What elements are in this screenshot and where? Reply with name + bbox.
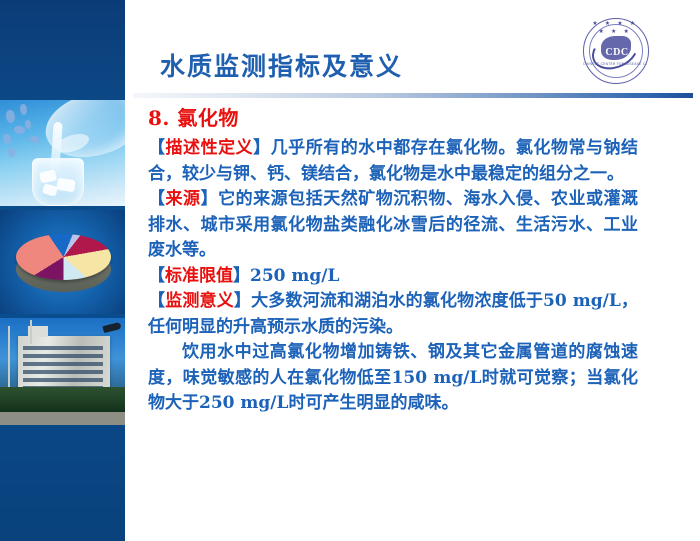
paragraph-source: 【来源】它的来源包括天然矿物沉积物、海水入侵、农业或灌溉排水、城市采用氯化物盐类…: [148, 187, 638, 264]
splash-droplet-icon: [3, 134, 11, 144]
slide-canvas: 水质监测指标及意义 ★ ★ ★ ★ ★ ★ ★ CDC CHINESE CENT…: [0, 0, 700, 541]
splash-droplet-icon: [14, 126, 25, 134]
decorative-sidebar: [0, 0, 125, 541]
label-monitoring-significance: 【监测意义】: [148, 291, 251, 311]
slide-body: 8. 氯化物 【描述性定义】几乎所有的水中都存在氯化物。氯化物常与钠结合，较少与…: [148, 105, 638, 417]
title-divider: [133, 93, 693, 98]
label-standard-limit: 【标准限值】: [148, 266, 250, 286]
security-camera-icon: [102, 322, 121, 333]
paragraph-closing: 饮用水中过高氯化物增加铸铁、钢及其它金属管道的腐蚀速度，味觉敏感的人在氯化物低至…: [148, 340, 638, 417]
window-row: [23, 378, 103, 382]
sidebar-image-water-pouring-into-glass: [0, 100, 125, 206]
road-strip: [0, 412, 125, 425]
splash-droplet-icon: [8, 148, 15, 157]
street-pole: [8, 326, 10, 392]
logo-arc-text: CHINESE CENTER FOR DISEASE CONTROL AND P…: [583, 62, 647, 66]
value-standard-limit: 250 mg/L: [250, 266, 339, 286]
antenna-mast: [30, 320, 32, 344]
window-row: [23, 354, 103, 358]
label-source: 【来源】: [148, 189, 218, 209]
window-row: [23, 362, 103, 366]
paragraph-monitoring-significance: 【监测意义】大多数河流和湖泊水的氯化物浓度低于50 mg/L，任何明显的升高预示…: [148, 289, 638, 340]
window-row: [23, 370, 103, 374]
splash-droplet-icon: [25, 120, 31, 129]
sidebar-image-pie-chart-3d: [0, 210, 125, 314]
label-descriptive-definition: 【描述性定义】: [148, 138, 271, 158]
paragraph-descriptive-definition: 【描述性定义】几乎所有的水中都存在氯化物。氯化物常与钠结合，较少与钾、钙、镁结合…: [148, 136, 638, 187]
splash-droplet-icon: [20, 104, 27, 115]
splash-droplet-icon: [30, 136, 39, 143]
paragraph-standard-limit: 【标准限值】250 mg/L: [148, 264, 638, 290]
logo-cdc-text: CDC: [602, 47, 632, 58]
pie-chart-top: [16, 234, 111, 280]
glass-shape: [32, 158, 84, 206]
splash-droplet-icon: [6, 110, 15, 123]
ice-cube-icon: [39, 169, 57, 183]
text-source: 它的来源包括天然矿物沉积物、海水入侵、农业或灌溉排水、城市采用氯化物盐类融化冰雪…: [148, 189, 638, 260]
sidebar-image-cdc-office-building: [0, 318, 125, 425]
ice-cube-icon: [42, 183, 58, 196]
tree-line: [0, 387, 125, 413]
ice-cube-icon: [56, 178, 76, 193]
section-heading: 8. 氯化物: [148, 105, 638, 131]
page-title: 水质监测指标及意义: [160, 47, 403, 83]
pie-chart-graphic: [16, 230, 111, 296]
window-row: [23, 346, 103, 350]
china-cdc-emblem-icon: ★ ★ ★ ★ ★ ★ ★ CDC CHINESE CENTER FOR DIS…: [574, 18, 656, 84]
